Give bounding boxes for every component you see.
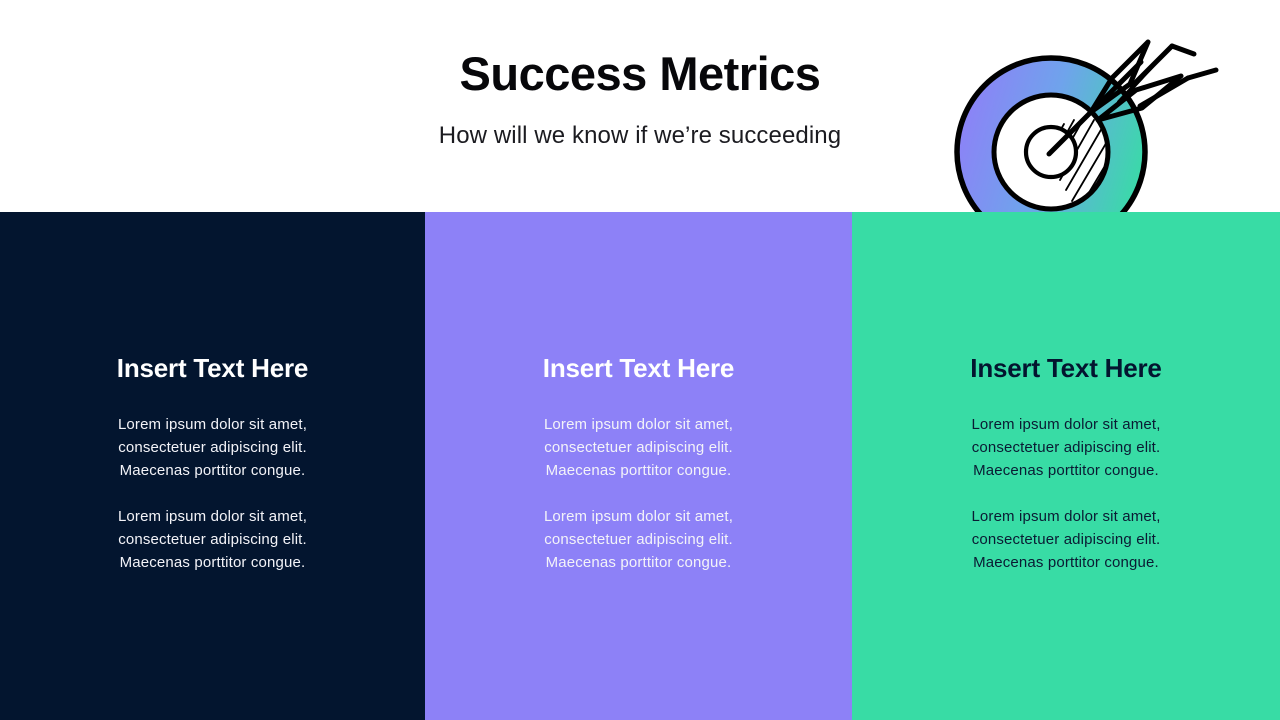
slide-header: Success Metrics How will we know if we’r… (0, 0, 1280, 212)
column-2-paragraph-1: Lorem ipsum dolor sit amet, consectetuer… (523, 413, 755, 482)
page-subtitle: How will we know if we’re succeeding (0, 120, 1280, 152)
column-2-body: Lorem ipsum dolor sit amet, consectetuer… (523, 413, 755, 574)
column-1-paragraph-2: Lorem ipsum dolor sit amet, consectetuer… (97, 505, 329, 574)
column-3-heading: Insert Text Here (970, 353, 1161, 383)
column-1-heading: Insert Text Here (117, 353, 308, 383)
slide-canvas: Success Metrics How will we know if we’r… (0, 0, 1280, 720)
column-3-paragraph-1: Lorem ipsum dolor sit amet, consectetuer… (950, 413, 1182, 482)
page-title: Success Metrics (0, 46, 1280, 102)
column-2-heading: Insert Text Here (543, 353, 734, 383)
content-column-1: Insert Text Here Lorem ipsum dolor sit a… (0, 212, 425, 720)
content-column-2: Insert Text Here Lorem ipsum dolor sit a… (425, 212, 852, 720)
column-3-body: Lorem ipsum dolor sit amet, consectetuer… (950, 413, 1182, 574)
column-3-paragraph-2: Lorem ipsum dolor sit amet, consectetuer… (950, 505, 1182, 574)
column-1-body: Lorem ipsum dolor sit amet, consectetuer… (97, 413, 329, 574)
column-2-paragraph-2: Lorem ipsum dolor sit amet, consectetuer… (523, 505, 755, 574)
content-column-3: Insert Text Here Lorem ipsum dolor sit a… (852, 212, 1280, 720)
column-1-paragraph-1: Lorem ipsum dolor sit amet, consectetuer… (97, 413, 329, 482)
content-columns: Insert Text Here Lorem ipsum dolor sit a… (0, 212, 1280, 720)
